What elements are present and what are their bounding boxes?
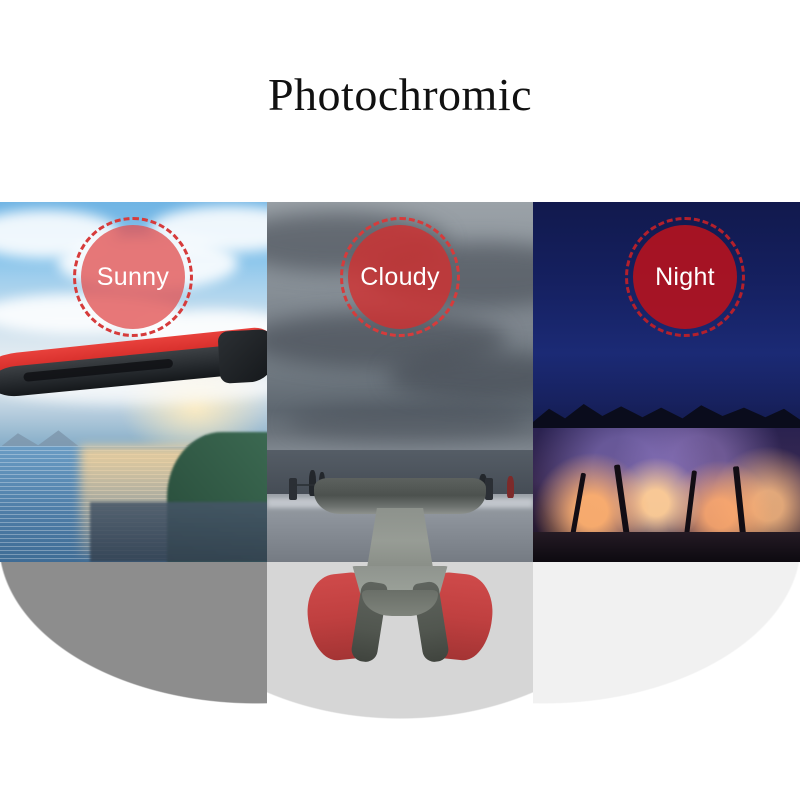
- lens-tint-night: [533, 562, 800, 800]
- badge-label: Sunny: [97, 263, 169, 292]
- badge-cloudy: Cloudy: [340, 217, 460, 337]
- pier-structure: [90, 502, 267, 562]
- badge-label: Night: [655, 263, 715, 292]
- product-feature-image: Photochromic: [0, 0, 800, 800]
- ground-shadow: [533, 532, 800, 562]
- nose-bridge-assembly: [300, 478, 500, 656]
- page-title: Photochromic: [0, 72, 800, 118]
- badge-sunny: Sunny: [73, 217, 193, 337]
- lens-tint-sunny: [0, 562, 267, 800]
- storm-cloud: [287, 402, 527, 442]
- temple-arm-hinge: [218, 329, 267, 384]
- badge-night: Night: [625, 217, 745, 337]
- bollard-post: [289, 478, 297, 500]
- person-silhouette: [507, 476, 514, 498]
- bridge-column: [366, 508, 434, 574]
- badge-label: Cloudy: [360, 263, 440, 292]
